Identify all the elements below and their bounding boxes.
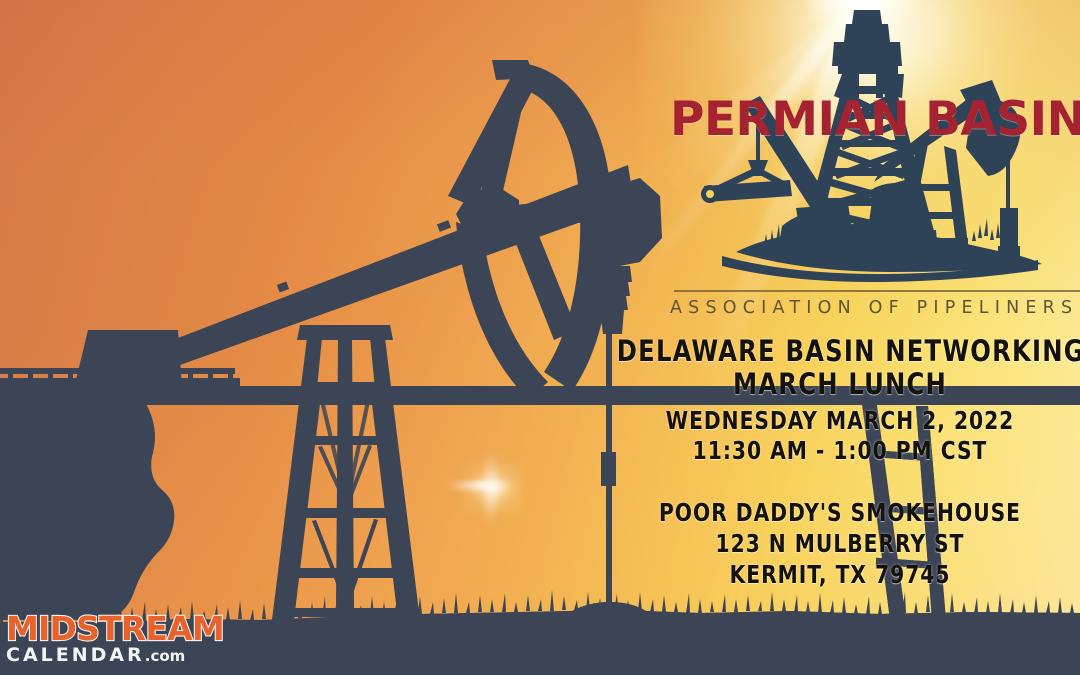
event-flyer: PERMIAN BASIN ASSOCIATION OF PIPELINERS …	[0, 0, 1080, 675]
venue-name: POOR DADDY'S SMOKEHOUSE	[624, 497, 1056, 528]
event-date: WEDNESDAY MARCH 2, 2022	[624, 406, 1056, 437]
brand-calendar-text: CALENDAR	[6, 644, 145, 666]
logo-subtitle: ASSOCIATION OF PIPELINERS	[670, 298, 1080, 318]
venue-city: KERMIT, TX 79745	[624, 559, 1056, 590]
venue-street: 123 N MULBERRY ST	[624, 528, 1056, 559]
event-time: 11:30 AM - 1:00 PM CST	[624, 436, 1056, 467]
spacer	[600, 467, 1080, 497]
logo-title: PERMIAN BASIN	[670, 96, 1080, 143]
brand-line-calendar: CALENDAR.com	[6, 646, 246, 665]
logo-divider	[674, 290, 1080, 292]
event-details: DELAWARE BASIN NETWORKING MARCH LUNCH WE…	[600, 336, 1080, 590]
event-title-line-1: DELAWARE BASIN NETWORKING	[617, 336, 1063, 366]
midstream-calendar-logo[interactable]: MIDSTREAM CALENDAR.com	[6, 612, 246, 672]
brand-line-midstream: MIDSTREAM	[6, 612, 246, 645]
logo-artwork-icon	[648, 8, 1080, 308]
permian-basin-logo: PERMIAN BASIN ASSOCIATION OF PIPELINERS	[648, 8, 1080, 328]
event-title-line-2: MARCH LUNCH	[617, 366, 1063, 402]
brand-tld: .com	[145, 647, 186, 665]
